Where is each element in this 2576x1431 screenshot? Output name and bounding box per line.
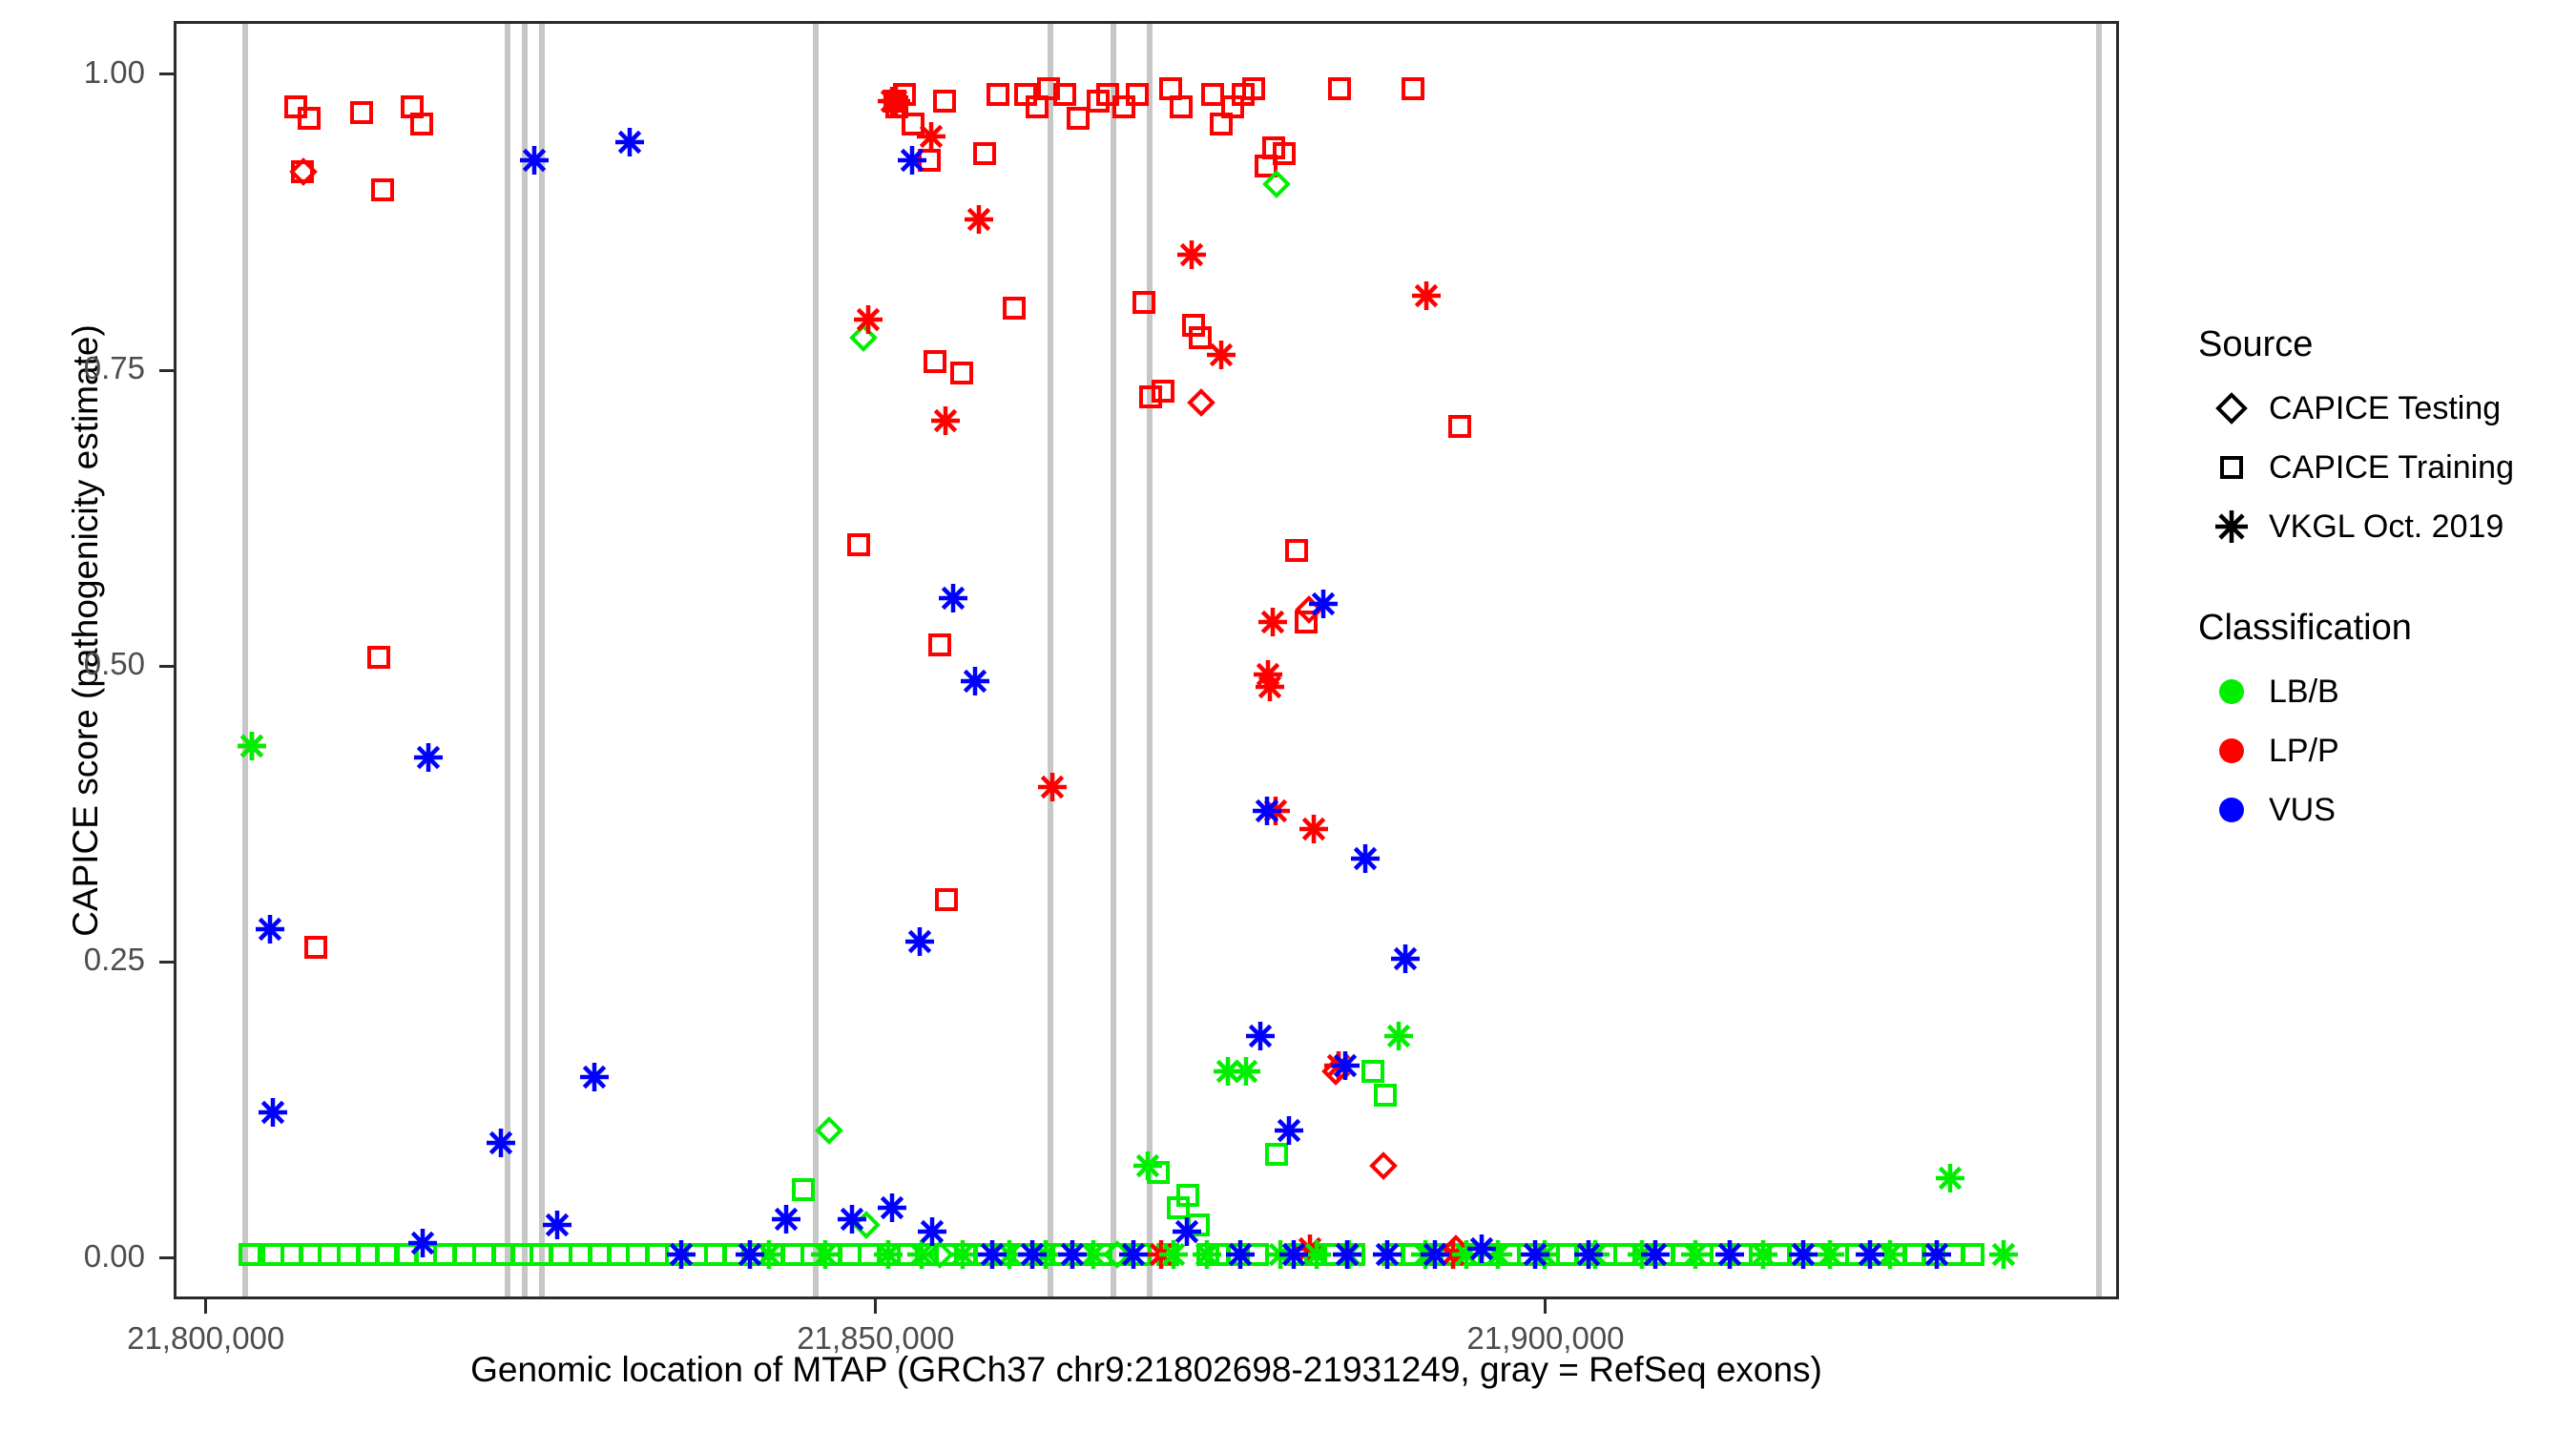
data-point	[1294, 1233, 1326, 1265]
data-point	[406, 1227, 439, 1259]
data-point	[1278, 1238, 1310, 1271]
data-point	[1175, 238, 1208, 271]
data-point	[280, 1242, 304, 1267]
y-axis-tick-label: 0.25	[0, 942, 145, 978]
data-point	[1901, 1242, 1926, 1267]
data-point	[892, 82, 917, 107]
data-point	[1327, 76, 1352, 101]
data-point	[297, 106, 322, 131]
data-point	[876, 85, 908, 117]
data-point	[1117, 1238, 1150, 1271]
data-point	[1056, 1238, 1089, 1271]
data-point	[1331, 1238, 1363, 1271]
data-point	[349, 100, 374, 125]
data-point	[1191, 1238, 1223, 1271]
data-point	[491, 1242, 516, 1267]
data-point	[1264, 1238, 1297, 1271]
data-point	[1941, 1242, 1965, 1267]
data-point	[1303, 1242, 1328, 1267]
data-point	[703, 1242, 728, 1267]
data-point	[1284, 538, 1309, 563]
data-point	[976, 1238, 1008, 1271]
legend-source-diamond-row[interactable]: CAPICE Testing	[2194, 379, 2557, 438]
data-point	[934, 1242, 959, 1267]
data-point	[1195, 1242, 1220, 1267]
y-axis-tick-label: 0.75	[0, 350, 145, 386]
y-axis-tick	[159, 961, 174, 964]
data-point	[1961, 1242, 1985, 1267]
y-axis-tick	[159, 369, 174, 372]
legend-source-diamond-icon	[2194, 379, 2269, 438]
data-point	[1333, 1238, 1365, 1271]
data-point	[932, 89, 957, 114]
data-point	[1181, 313, 1206, 338]
data-point	[625, 1242, 650, 1267]
data-point	[485, 1127, 517, 1159]
data-point	[1066, 106, 1091, 131]
y-axis-title: CAPICE score (pathogenicity estimate)	[66, 10, 106, 1251]
data-point	[916, 1215, 948, 1248]
data-point	[366, 645, 391, 670]
data-point	[1002, 296, 1027, 321]
data-point	[1626, 1238, 1658, 1271]
data-point	[927, 633, 952, 657]
data-point	[1690, 1242, 1714, 1267]
data-point	[992, 1242, 1017, 1267]
data-point	[929, 404, 962, 437]
data-point	[760, 1242, 785, 1267]
data-point	[409, 112, 434, 136]
data-point	[877, 1242, 902, 1267]
data-point	[1714, 1238, 1746, 1271]
data-point	[283, 94, 308, 119]
data-point	[1025, 94, 1049, 119]
data-point	[1186, 1213, 1211, 1237]
data-point	[1300, 1238, 1333, 1271]
data-point	[1245, 1242, 1270, 1267]
data-point	[336, 1242, 361, 1267]
data-point	[413, 1242, 438, 1267]
data-point	[1254, 671, 1286, 703]
data-point	[1070, 1242, 1094, 1267]
data-point	[1369, 1151, 1398, 1180]
data-point	[1381, 1242, 1405, 1267]
data-point	[852, 1211, 881, 1239]
data-point	[1729, 1242, 1754, 1267]
data-point	[946, 1238, 979, 1271]
data-point	[1447, 414, 1472, 439]
data-point	[257, 1096, 289, 1129]
data-point	[298, 1242, 322, 1267]
data-point	[374, 1242, 399, 1267]
data-point	[664, 1242, 689, 1267]
data-point	[1209, 112, 1234, 136]
data-point	[289, 157, 318, 186]
data-point	[1409, 1238, 1442, 1271]
data-point	[1864, 1242, 1889, 1267]
data-point	[1805, 1242, 1830, 1267]
data-point	[254, 913, 286, 945]
legend-source-asterisk-label: VKGL Oct. 2019	[2269, 508, 2503, 546]
data-point	[734, 1238, 766, 1271]
exon-band	[242, 24, 248, 1296]
data-point	[972, 141, 997, 166]
data-point	[236, 730, 268, 762]
data-point	[1874, 1238, 1906, 1271]
data-point	[1883, 1242, 1908, 1267]
exon-band	[1147, 24, 1153, 1296]
data-point	[872, 1238, 904, 1271]
data-point	[1251, 795, 1283, 827]
data-point	[432, 1242, 457, 1267]
plot-panel	[174, 21, 2119, 1299]
legend-source-diamond-label: CAPICE Testing	[2269, 390, 2501, 427]
data-point	[876, 1192, 908, 1224]
exon-band	[813, 24, 819, 1296]
data-point	[1401, 1242, 1425, 1267]
data-point	[1077, 1238, 1110, 1271]
data-point	[1748, 1242, 1773, 1267]
data-point	[1572, 1238, 1605, 1271]
y-axis-tick	[159, 1256, 174, 1259]
data-point	[1187, 388, 1215, 417]
data-point	[1207, 1242, 1232, 1267]
legend-class-lpp-label: LP/P	[2269, 733, 2339, 770]
data-point	[836, 1203, 868, 1235]
legend-class-lpp-icon	[2194, 721, 2269, 780]
data-point	[1013, 82, 1038, 107]
data-point	[986, 82, 1010, 107]
data-point	[1052, 82, 1077, 107]
data-point	[290, 159, 315, 184]
data-point	[1555, 1242, 1580, 1267]
data-point	[1264, 1142, 1289, 1167]
data-point	[1373, 1083, 1398, 1108]
data-point	[452, 1242, 477, 1267]
exon-band	[2096, 24, 2102, 1296]
data-point	[578, 1061, 611, 1093]
legend-class-lbb-row[interactable]: LB/B	[2194, 662, 2557, 721]
data-point	[780, 1242, 805, 1267]
data-point	[541, 1209, 573, 1241]
data-point	[1382, 1020, 1415, 1052]
data-point	[925, 1240, 954, 1269]
data-point	[883, 89, 907, 114]
data-point	[1261, 135, 1286, 160]
data-point	[1254, 154, 1278, 178]
data-point	[1321, 1242, 1346, 1267]
data-point	[1294, 610, 1319, 634]
data-point	[896, 144, 928, 176]
data-point	[963, 203, 995, 236]
data-point	[395, 1242, 420, 1267]
data-point	[1747, 1238, 1779, 1271]
data-point	[1389, 943, 1422, 975]
data-point	[606, 1242, 631, 1267]
data-point	[1593, 1242, 1618, 1267]
data-point	[1175, 1183, 1200, 1208]
data-point	[1787, 1242, 1812, 1267]
data-point	[568, 1242, 592, 1267]
data-point	[1151, 379, 1175, 404]
data-point	[1273, 1114, 1305, 1147]
data-point	[993, 1238, 1026, 1271]
data-point	[1252, 658, 1284, 691]
data-point	[852, 303, 884, 336]
data-point	[846, 532, 871, 557]
x-axis-tick	[874, 1299, 877, 1314]
data-point	[1528, 1238, 1561, 1271]
data-point	[1844, 1242, 1869, 1267]
data-point	[1205, 339, 1237, 371]
data-point	[815, 1116, 843, 1145]
data-point	[1579, 1238, 1611, 1271]
data-point	[1482, 1238, 1514, 1271]
x-axis-tick-label: 21,800,000	[63, 1320, 349, 1357]
data-point	[1016, 1238, 1049, 1271]
data-point	[1284, 1242, 1309, 1267]
x-axis-tick	[204, 1299, 207, 1314]
data-point	[260, 1242, 285, 1267]
legend: Source CAPICE TestingCAPICE TrainingVKGL…	[2194, 324, 2557, 891]
data-point	[1132, 290, 1156, 315]
legend-source-square-icon	[2194, 438, 2269, 497]
data-point	[1166, 1195, 1191, 1220]
data-point	[1321, 1057, 1350, 1086]
data-point	[370, 177, 395, 202]
data-point	[588, 1242, 613, 1267]
data-point	[1921, 1238, 1953, 1271]
legend-title-classification: Classification	[2198, 608, 2557, 649]
data-point	[800, 1242, 824, 1267]
data-point	[1322, 1049, 1355, 1082]
data-point	[1200, 82, 1225, 107]
data-point	[1361, 1059, 1385, 1084]
data-point	[949, 361, 974, 385]
data-point	[1371, 1238, 1403, 1271]
data-point	[904, 925, 936, 958]
data-point	[1103, 1240, 1132, 1269]
data-point	[356, 1242, 381, 1267]
data-point	[1401, 76, 1425, 101]
x-axis-title: Genomic location of MTAP (GRCh37 chr9:21…	[174, 1350, 2119, 1390]
data-point	[1307, 588, 1340, 620]
data-point	[1262, 170, 1291, 198]
data-point	[818, 1242, 842, 1267]
data-point	[1497, 1242, 1522, 1267]
y-axis-tick-label: 0.00	[0, 1238, 145, 1275]
exon-band	[1048, 24, 1053, 1296]
data-point	[1349, 842, 1381, 875]
data-point	[959, 665, 991, 697]
data-point	[684, 1242, 709, 1267]
data-point	[400, 94, 425, 119]
data-point	[665, 1238, 697, 1271]
x-axis-tick-label: 21,900,000	[1402, 1320, 1689, 1357]
data-point	[1459, 1242, 1484, 1267]
data-point	[471, 1242, 496, 1267]
data-point	[1241, 76, 1266, 101]
data-point	[1225, 1242, 1250, 1267]
data-point	[1158, 76, 1183, 101]
data-point	[1814, 1238, 1846, 1271]
data-point	[917, 148, 942, 173]
x-axis-tick-label: 21,850,000	[733, 1320, 1019, 1357]
data-point	[934, 887, 959, 912]
data-point	[896, 1242, 921, 1267]
data-point	[1419, 1238, 1451, 1271]
data-point	[753, 1238, 785, 1271]
data-point	[1224, 1238, 1257, 1271]
data-point	[1188, 325, 1213, 350]
data-point	[303, 935, 328, 960]
legend-class-vus-label: VUS	[2269, 792, 2336, 829]
data-point	[741, 1242, 766, 1267]
data-point	[1679, 1238, 1712, 1271]
data-point	[849, 323, 878, 352]
data-point	[1244, 1020, 1277, 1052]
data-point	[1670, 1242, 1694, 1267]
data-point	[901, 112, 925, 136]
data-point	[1298, 813, 1330, 845]
exon-band	[539, 24, 545, 1296]
y-axis-tick	[159, 665, 174, 668]
data-point	[1787, 1238, 1819, 1271]
data-point	[1220, 94, 1245, 119]
legend-source-asterisk-row[interactable]: VKGL Oct. 2019	[2194, 497, 2557, 556]
legend-group-classification: Classification LB/BLP/PVUS	[2194, 608, 2557, 840]
data-point	[1295, 595, 1323, 624]
data-point	[1010, 1242, 1035, 1267]
legend-class-vus-row[interactable]: VUS	[2194, 780, 2557, 840]
data-point	[1410, 280, 1443, 312]
data-point	[1709, 1242, 1734, 1267]
data-point	[884, 94, 909, 119]
data-point	[721, 1242, 746, 1267]
data-point	[645, 1242, 670, 1267]
legend-group-source: Source CAPICE TestingCAPICE TrainingVKGL…	[2194, 324, 2557, 556]
data-point	[953, 1242, 978, 1267]
data-point	[1257, 606, 1289, 638]
data-point	[1420, 1242, 1444, 1267]
y-axis-tick-label: 1.00	[0, 54, 145, 91]
data-point	[1157, 1238, 1190, 1271]
legend-class-lbb-label: LB/B	[2269, 674, 2339, 711]
data-point	[1922, 1242, 1946, 1267]
data-point	[1442, 1234, 1470, 1263]
data-point	[1450, 1238, 1483, 1271]
data-point	[937, 582, 969, 614]
data-point	[613, 126, 646, 158]
legend-source-asterisk-icon	[2194, 497, 2269, 556]
data-point	[857, 1242, 882, 1267]
data-point	[317, 1242, 342, 1267]
data-point	[1231, 82, 1256, 107]
data-point	[1477, 1242, 1502, 1267]
data-point	[1516, 1242, 1541, 1267]
data-point	[1259, 795, 1292, 827]
data-point	[1230, 1055, 1262, 1088]
exon-band	[505, 24, 510, 1296]
data-point	[1934, 1162, 1966, 1194]
data-point	[923, 349, 947, 374]
data-point	[1767, 1242, 1792, 1267]
x-axis-tick	[1544, 1299, 1547, 1314]
legend-class-vus-icon	[2194, 780, 2269, 840]
data-point	[838, 1242, 862, 1267]
data-point	[1825, 1242, 1850, 1267]
data-point	[1029, 1238, 1062, 1271]
data-point	[1049, 1242, 1074, 1267]
data-point	[1536, 1242, 1561, 1267]
data-point	[1272, 141, 1297, 166]
data-point	[915, 120, 947, 153]
y-axis-tick	[159, 73, 174, 75]
data-point	[412, 741, 445, 774]
data-point	[1212, 1055, 1244, 1088]
data-point	[973, 1242, 998, 1267]
legend-source-square-label: CAPICE Training	[2269, 449, 2514, 487]
data-point	[1465, 1233, 1498, 1265]
data-point	[1612, 1242, 1637, 1267]
data-point	[1854, 1238, 1886, 1271]
data-point	[1987, 1238, 2020, 1271]
data-point	[1171, 1215, 1203, 1248]
data-point	[1341, 1242, 1366, 1267]
data-point	[236, 730, 268, 762]
data-point	[880, 85, 912, 117]
data-point	[1639, 1238, 1672, 1271]
data-point	[914, 1242, 939, 1267]
data-point	[1652, 1242, 1676, 1267]
data-point	[1573, 1242, 1598, 1267]
exon-band	[1111, 24, 1116, 1296]
data-point	[1519, 1238, 1551, 1271]
data-point	[770, 1203, 802, 1235]
data-point	[1329, 1049, 1361, 1082]
legend-class-lbb-icon	[2194, 662, 2269, 721]
y-axis-tick-label: 0.50	[0, 646, 145, 682]
legend-source-square-row[interactable]: CAPICE Training	[2194, 438, 2557, 497]
legend-title-source: Source	[2198, 324, 2557, 365]
data-point	[1086, 89, 1111, 114]
data-point	[1169, 94, 1194, 119]
data-point	[1095, 82, 1120, 107]
data-point	[549, 1242, 573, 1267]
exon-band	[522, 24, 528, 1296]
legend-class-lpp-row[interactable]: LP/P	[2194, 721, 2557, 780]
capice-scatter-figure: CAPICE score (pathogenicity estimate) Ge…	[0, 0, 2576, 1431]
data-point	[1438, 1242, 1463, 1267]
data-point	[905, 1238, 938, 1271]
data-point	[1437, 1238, 1469, 1271]
data-point	[1155, 1242, 1180, 1267]
data-point	[1632, 1242, 1657, 1267]
